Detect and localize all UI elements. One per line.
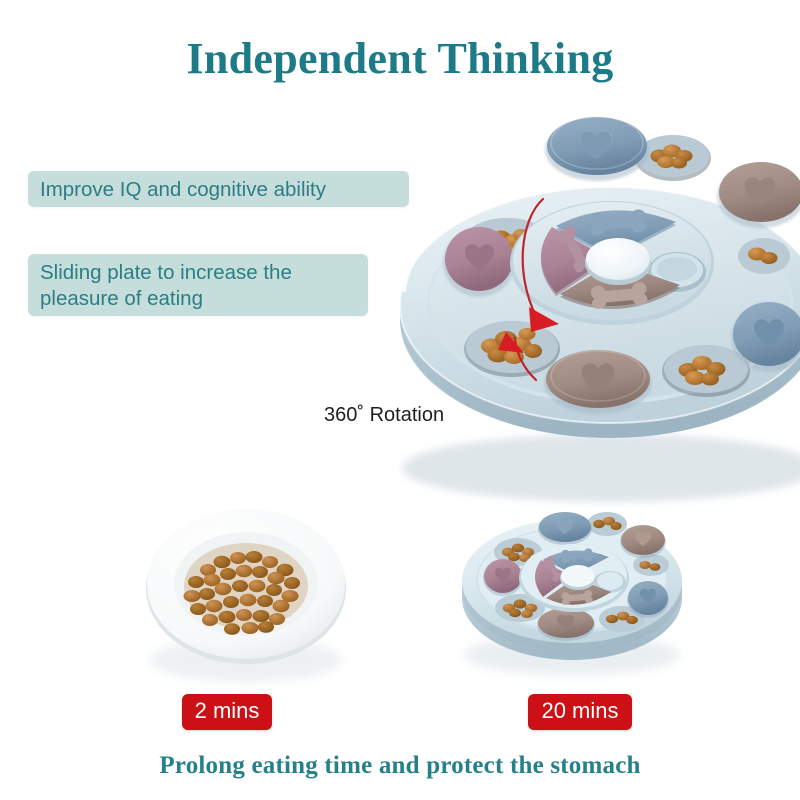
sliding-cover-top[interactable] <box>538 512 592 545</box>
sliding-cover-left[interactable] <box>483 559 523 596</box>
slow-feeder-puzzle-toy-small <box>462 512 682 675</box>
sliding-cover-upper-right[interactable] <box>620 525 666 558</box>
time-badge-right: 20 mins <box>528 694 632 730</box>
plate-of-kibble <box>146 509 346 682</box>
sliding-cover-lower-right[interactable] <box>627 581 669 618</box>
food-well <box>587 512 627 536</box>
comparison-row <box>0 0 800 800</box>
inner-rotating-disc[interactable] <box>519 544 629 612</box>
product-infographic: Independent Thinking <box>0 0 800 800</box>
time-badge-left: 2 mins <box>182 694 272 730</box>
sliding-cover-bottom[interactable] <box>537 608 595 641</box>
center-hub <box>560 565 596 590</box>
footer-tagline: Prolong eating time and protect the stom… <box>0 752 800 780</box>
